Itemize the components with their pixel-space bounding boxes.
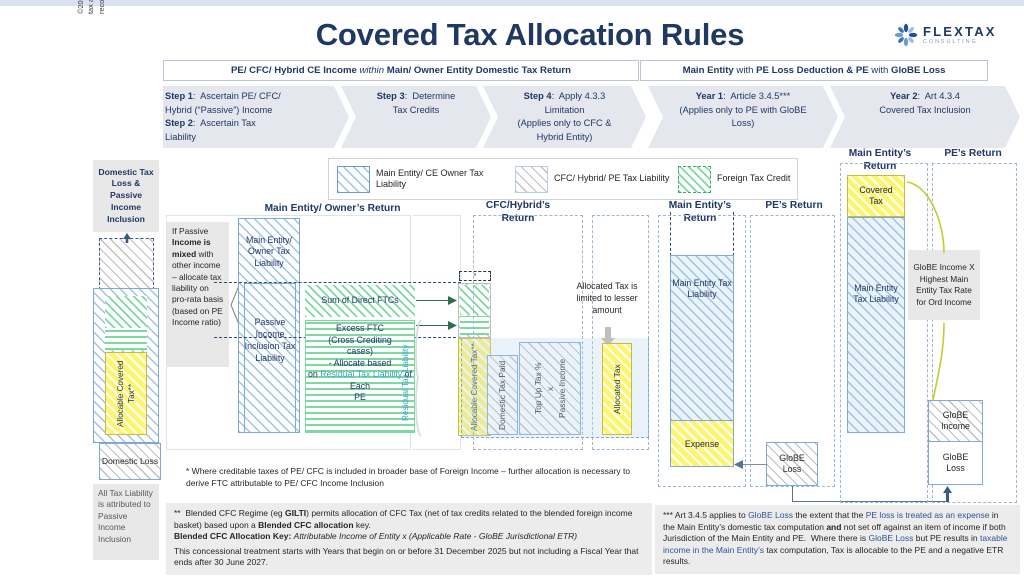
left-column-header-note: Domestic Tax Loss & Passive Income Inclu… — [93, 160, 159, 232]
year1-expense-label: Expense — [685, 439, 719, 449]
infographic-page: Covered Tax Allocation Rules FLEXTAX CON… — [0, 0, 1024, 576]
step-3-chevron: Step 3: Determine Tax Credits — [341, 86, 491, 148]
legend-label-foreign-tax-credit: Foreign Tax Credit — [717, 173, 790, 185]
allocated-tax-limit-note: Allocated Tax is limited to lesser amoun… — [568, 270, 646, 325]
legend-swatch-cfc-hybrid-pe-icon — [515, 166, 548, 193]
year1-main-entity-tax-liability-label: Main Entity Tax Liability — [671, 256, 733, 314]
left-arrow-icon — [733, 459, 743, 470]
top-accent-bar — [0, 0, 1024, 6]
footnote-triple-star-text: *** Art 3.4.5 applies to GloBE Loss the … — [663, 510, 1007, 566]
legend-item-cfc-hybrid-pe: CFC/ Hybrid/ PE Tax Liability — [515, 166, 670, 193]
left-allocable-covered-tax-box: Allocable Covered Tax** — [105, 352, 147, 435]
col-title-pe-return-1: PE’s Return — [754, 200, 834, 213]
footnote-allocation-key: Blended CFC Allocation Key: Attributable… — [174, 531, 644, 543]
ftc-arrow-1-line — [416, 300, 450, 301]
sum-of-direct-ftcs-label: Sum of Direct FTCs — [321, 295, 398, 307]
excess-ftc-label: Excess FTC(Cross Creditingcases)- Alloca… — [306, 321, 414, 404]
col-title-main-owner-return: Main Entity/ Owner’s Return — [225, 203, 440, 216]
residual-bracket-icon — [412, 318, 424, 438]
year1-globe-loss-connector — [792, 486, 793, 502]
year2-main-entity-tax-liability-label: Main Entity Tax Liability — [848, 264, 904, 324]
year2-main-entity-tax-liability-box: Main Entity Tax Liability — [847, 217, 905, 433]
banner-left-text: PE/ CFC/ Hybrid CE Income within Main/ O… — [231, 65, 571, 76]
year2-globe-loss-box: GloBELoss — [928, 441, 983, 485]
banner-right: Main Entity with PE Loss Deduction & PE … — [640, 60, 988, 81]
footnote-double-star-p1: ** Blended CFC Regime (eg GILTI) permits… — [174, 508, 644, 531]
step-1-2-chevron: Step 1: Ascertain PE/ CFC/ Hybrid (“Pass… — [163, 86, 349, 148]
year-1-chevron: Year 1: Article 3.4.5*** (Applies only t… — [648, 86, 838, 148]
year1-globe-loss-label: GloBELoss — [779, 453, 804, 476]
legend-label-main-entity: Main Entity/ CE Owner Tax Liability — [376, 168, 507, 191]
banner-right-text: Main Entity with PE Loss Deduction & PE … — [683, 65, 946, 76]
year-2-chevron: Year 2: Art 4.3.4 Covered Tax Inclusion — [830, 86, 1020, 148]
passive-income-inclusion-tax-liability-label: Passive Income Inclusion Tax Liability — [244, 300, 296, 382]
legend-swatch-foreign-tax-credit-icon — [678, 166, 711, 193]
copyright-notice: ©2023Flextax Consulting Pte Ltd. All rig… — [16, 14, 78, 562]
left-ftc-line-block — [105, 328, 147, 350]
main-return-side-note: If Passive Income is mixed with other in… — [167, 222, 229, 367]
year2-formula-note: GloBE Income X Highest Main Entity Tax R… — [908, 250, 980, 320]
ftc-arrow-1-head-icon — [448, 295, 458, 306]
footnote-triple-star: *** Art 3.4.5 applies to GloBE Loss the … — [655, 505, 1020, 574]
col-title-pe-return-2: PE’s Return — [932, 148, 1014, 161]
flextax-logo: FLEXTAX CONSULTING — [894, 18, 1016, 52]
left-domestic-loss-box: Domestic Loss — [99, 443, 161, 480]
footnote-concessional-note: This concessional treatment starts with … — [174, 546, 644, 569]
guide-line-top — [214, 282, 461, 283]
page-title: Covered Tax Allocation Rules — [150, 14, 910, 56]
year1-globe-loss-box: GloBELoss — [766, 442, 818, 486]
year2-globe-loss-label: GloBELoss — [943, 452, 968, 475]
year2-globe-income-box: GloBEIncome — [928, 400, 983, 442]
year1-expense-box: Expense — [670, 420, 734, 467]
year1-main-entity-tax-liability-box: Main Entity Tax Liability — [670, 255, 734, 420]
logo-name: FLEXTAX — [923, 25, 997, 38]
year1-globe-loss-arrow-line — [739, 464, 767, 465]
year2-covered-tax-label: CoveredTax — [859, 185, 892, 208]
logo-tagline: CONSULTING — [923, 40, 997, 46]
sum-of-direct-ftcs-box: Sum of Direct FTCs — [305, 285, 415, 317]
legend: Main Entity/ CE Owner Tax Liability CFC/… — [328, 158, 798, 200]
legend-item-main-entity: Main Entity/ CE Owner Tax Liability — [337, 166, 507, 193]
step-4-chevron: Step 4: Apply 4.3.3 Limitation (Applies … — [483, 86, 646, 148]
ftc-arrow-2-head-icon — [448, 320, 458, 331]
left-domestic-loss-upper-box — [99, 238, 154, 290]
allocated-tax-box: Allocated Tax — [602, 343, 632, 435]
flextax-flower-logo-icon — [894, 23, 918, 47]
left-domestic-loss-label: Domestic Loss — [102, 456, 158, 467]
left-ftc-hatch-block — [105, 296, 147, 328]
year2-covered-tax-box: CoveredTax — [847, 175, 905, 217]
up-arrow-icon — [119, 233, 135, 243]
legend-label-cfc-hybrid-pe: CFC/ Hybrid/ PE Tax Liability — [554, 173, 669, 185]
residual-tax-liability-vertical-label: Residual Tax Liability — [399, 330, 412, 435]
left-allocable-covered-tax-label: Allocable Covered Tax** — [106, 353, 146, 434]
footnote-double-star: ** Blended CFC Regime (eg GILTI) permits… — [166, 503, 652, 575]
year2-globe-income-label: GloBEIncome — [941, 410, 970, 433]
legend-item-foreign-tax-credit: Foreign Tax Credit — [678, 166, 813, 193]
footnote-star: * Where creditable taxes of PE/ CFC is i… — [186, 466, 638, 489]
allocated-tax-label: Allocated Tax — [603, 344, 631, 434]
left-column-footer-note: All Tax Liability is attributed to Passi… — [93, 484, 159, 560]
banner-left: PE/ CFC/ Hybrid CE Income within Main/ O… — [163, 60, 639, 81]
legend-swatch-main-entity-icon — [337, 166, 370, 193]
main-entity-owner-tax-liability-label: Main Entity/ Owner Tax Liability — [240, 222, 298, 282]
copyright-text: ©2023Flextax Consulting Pte Ltd. All rig… — [76, 0, 107, 14]
year1-main-entity-top-dashed-box — [670, 212, 734, 256]
